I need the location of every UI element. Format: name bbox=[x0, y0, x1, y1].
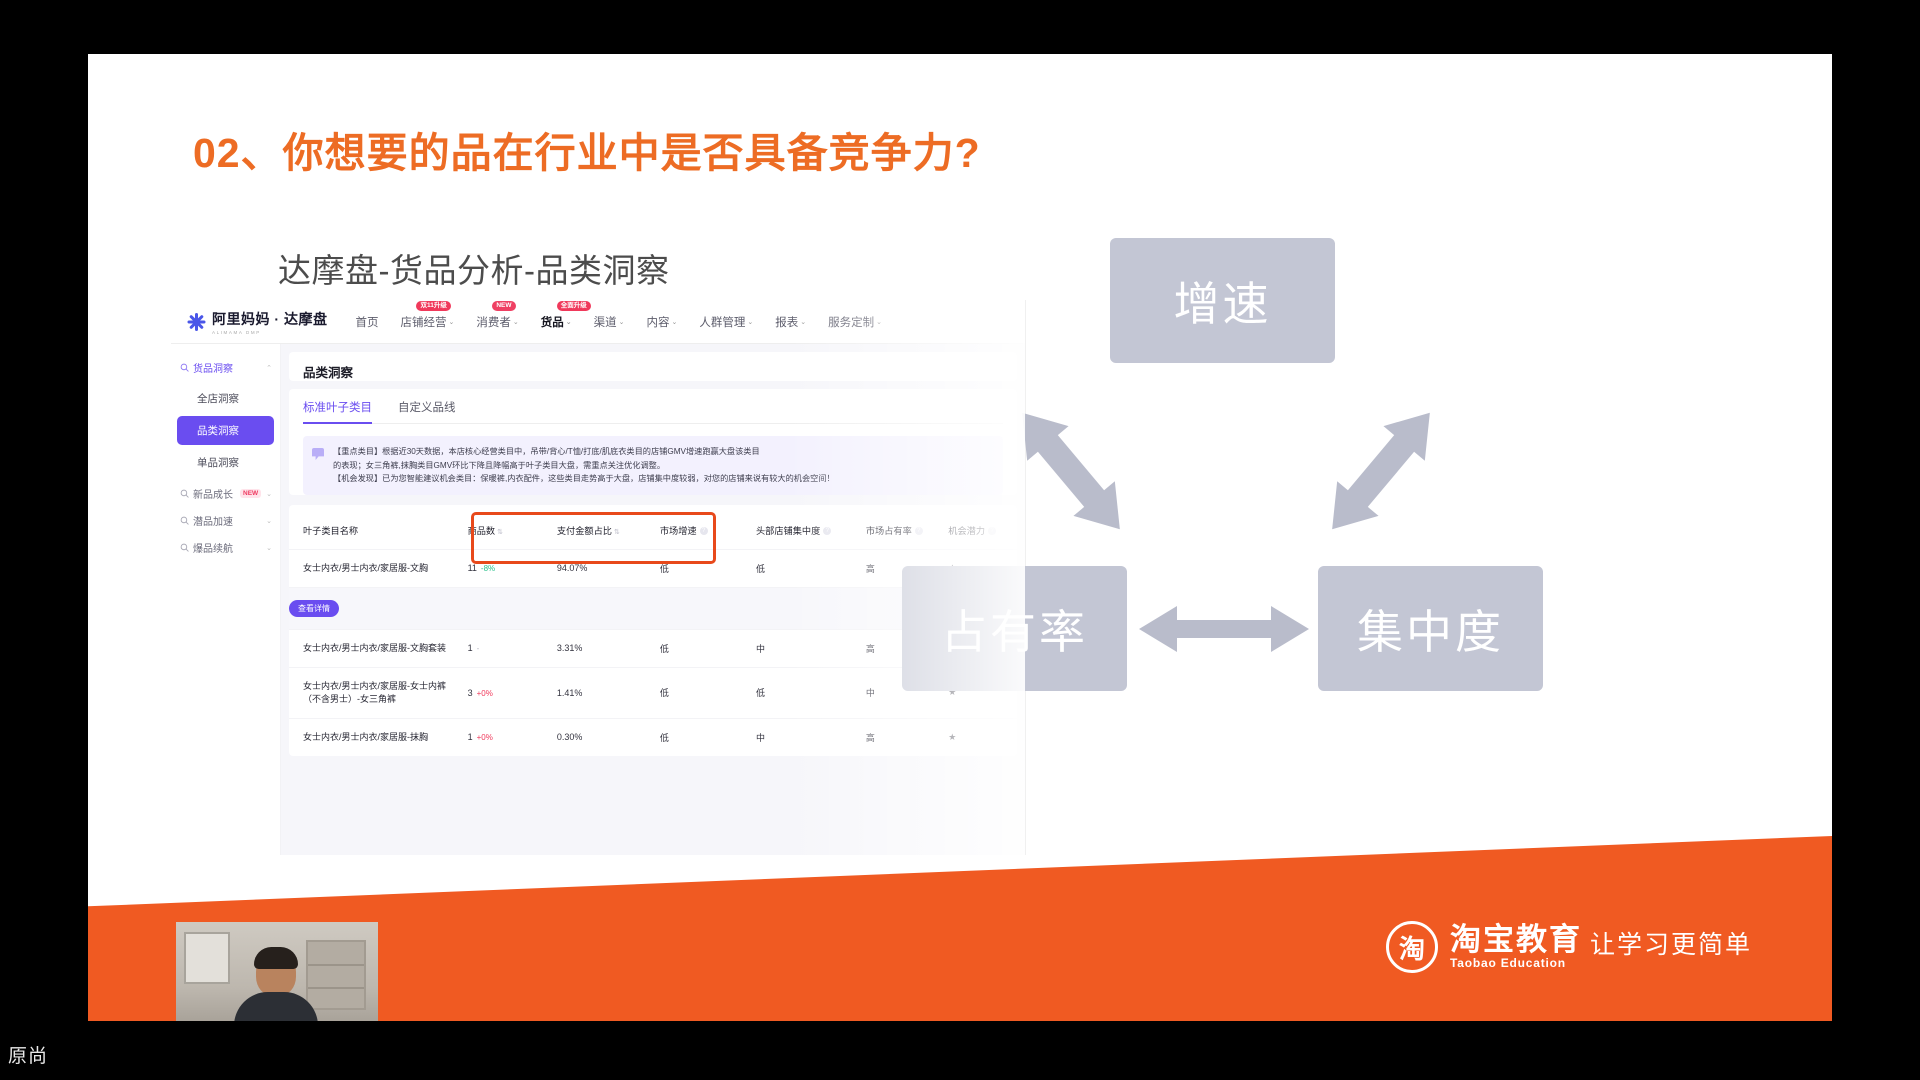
sidebar-group-new-product-growth[interactable]: 新品成长 NEW ⌄ bbox=[171, 480, 280, 507]
th-label: 头部店铺集中度 bbox=[756, 526, 820, 536]
cell-payment-ratio: 1.41% bbox=[557, 667, 660, 718]
nav-item-list: 首页 双11升级 店铺经营 ⌄ NEW 消费者 ⌄ 全面升级 货品 bbox=[355, 310, 882, 334]
webcam-background bbox=[176, 922, 378, 1021]
footer-slogan: 让学习更简单 bbox=[1590, 925, 1752, 961]
cell-payment-ratio: 94.07% bbox=[557, 549, 660, 587]
sidebar-item-category-insight[interactable]: 品类洞察 bbox=[177, 416, 274, 445]
slide-canvas: 02、你想要的品在行业中是否具备竞争力? 达摩盘-货品分析-品类洞察 bbox=[88, 54, 1832, 1021]
th-payment-amount-ratio[interactable]: 支付金额占比⇅ bbox=[557, 509, 660, 550]
presenter-name: 原尚 bbox=[8, 1041, 48, 1068]
nav-badge: 全面升级 bbox=[557, 301, 591, 311]
th-category-name: 叶子类目名称 bbox=[289, 509, 468, 550]
nav-badge: NEW bbox=[492, 301, 515, 311]
cell-product-count: 1+0% bbox=[468, 718, 557, 756]
help-icon[interactable]: ? bbox=[700, 527, 708, 535]
nav-badge: 双11升级 bbox=[416, 301, 450, 311]
cell-product-count: 1- bbox=[468, 629, 557, 667]
nav-item-channel[interactable]: 渠道 ⌄ bbox=[594, 310, 625, 334]
chevron-up-icon: ⌃ bbox=[266, 364, 272, 372]
sidebar-group-label: 爆品续航 bbox=[193, 540, 233, 555]
chevron-down-icon: ⌄ bbox=[266, 517, 272, 525]
count-delta: +0% bbox=[477, 733, 493, 742]
th-label: 商品数 bbox=[468, 526, 496, 536]
sort-icon[interactable]: ⇅ bbox=[614, 529, 620, 536]
nav-item-home[interactable]: 首页 bbox=[355, 310, 378, 334]
chevron-down-icon: ⌄ bbox=[448, 318, 454, 326]
arrow-share-to-growth bbox=[996, 389, 1146, 554]
nav-item-label: 店铺经营 bbox=[400, 314, 446, 330]
sidebar-group-goods-insight[interactable]: 货品洞察 ⌃ bbox=[171, 354, 280, 381]
hair-shape bbox=[254, 947, 298, 969]
torso-shape bbox=[234, 992, 318, 1021]
sidebar-group-label: 货品洞察 bbox=[193, 360, 233, 375]
taobao-logo-icon: 淘 bbox=[1386, 921, 1438, 973]
lightbulb-icon bbox=[312, 448, 324, 460]
help-icon[interactable]: ? bbox=[823, 527, 831, 535]
cell-category-name: 女士内衣/男士内衣/家居服-抹胸 bbox=[289, 718, 468, 756]
sort-icon[interactable]: ⇅ bbox=[497, 529, 503, 536]
cell-market-growth: 低 bbox=[660, 718, 756, 756]
sidebar-group-potential-accel[interactable]: 潜品加速 ⌄ bbox=[171, 507, 280, 534]
chevron-down-icon: ⌄ bbox=[566, 318, 572, 326]
nav-item-label: 首页 bbox=[355, 314, 378, 330]
chevron-down-icon: ⌄ bbox=[671, 318, 677, 326]
nav-item-label: 内容 bbox=[646, 314, 669, 330]
chevron-down-icon: ⌄ bbox=[266, 490, 272, 498]
screen-root: 02、你想要的品在行业中是否具备竞争力? 达摩盘-货品分析-品类洞察 bbox=[0, 0, 1920, 1080]
insight-icon bbox=[180, 363, 189, 372]
th-label: 市场增速 bbox=[660, 526, 697, 536]
accelerate-icon bbox=[180, 516, 189, 525]
nav-item-label: 货品 bbox=[541, 314, 564, 330]
diagram-node-concentration: 集中度 bbox=[1318, 566, 1543, 691]
tab-custom-product-line[interactable]: 自定义品线 bbox=[398, 399, 456, 423]
chevron-down-icon: ⌄ bbox=[513, 318, 519, 326]
concept-diagram: 增速 占有率 集中度 bbox=[878, 214, 1578, 744]
th-label: 支付金额占比 bbox=[557, 526, 612, 536]
cell-market-growth: 低 bbox=[660, 667, 756, 718]
nav-item-goods[interactable]: 全面升级 货品 ⌄ bbox=[541, 310, 572, 334]
cell-concentration: 中 bbox=[756, 629, 866, 667]
cell-payment-ratio: 0.30% bbox=[557, 718, 660, 756]
count-delta: - bbox=[477, 644, 480, 653]
cell-concentration: 中 bbox=[756, 718, 866, 756]
count-delta: -8% bbox=[481, 564, 495, 573]
presenter-webcam[interactable] bbox=[176, 922, 378, 1021]
logo-text-cn: 淘宝教育 bbox=[1450, 924, 1582, 957]
th-product-count[interactable]: 商品数⇅ bbox=[468, 509, 557, 550]
count-value: 3 bbox=[468, 688, 473, 698]
chevron-down-icon: ⌄ bbox=[619, 318, 625, 326]
cell-category-name: 女士内衣/男士内衣/家居服-女士内裤（不含男士）-女三角裤 bbox=[289, 667, 468, 718]
presenter-figure bbox=[228, 950, 324, 1021]
endurance-icon bbox=[180, 543, 189, 552]
count-value: 11 bbox=[468, 563, 477, 573]
nav-item-label: 服务定制 bbox=[828, 314, 874, 330]
diagram-node-growth: 增速 bbox=[1110, 238, 1335, 363]
sidebar-item-all-store-insight[interactable]: 全店洞察 bbox=[177, 384, 274, 413]
growth-icon bbox=[180, 489, 189, 498]
nav-item-consumer[interactable]: NEW 消费者 ⌄ bbox=[476, 310, 518, 334]
count-value: 1 bbox=[468, 732, 473, 742]
cell-market-growth: 低 bbox=[660, 629, 756, 667]
chevron-down-icon: ⌄ bbox=[266, 544, 272, 552]
th-label: 叶子类目名称 bbox=[303, 526, 358, 536]
nav-item-label: 人群管理 bbox=[699, 314, 745, 330]
chevron-down-icon: ⌄ bbox=[800, 318, 806, 326]
app-sidebar: 货品洞察 ⌃ 全店洞察 品类洞察 单品洞察 新品成长 NEW ⌄ bbox=[171, 344, 281, 855]
brand-name: 阿里妈妈 · 达摩盘 bbox=[212, 309, 327, 329]
nav-item-reports[interactable]: 报表 ⌄ bbox=[775, 310, 806, 334]
cell-market-growth: 低 bbox=[660, 549, 756, 587]
cell-product-count: 11-8% bbox=[468, 549, 557, 587]
alimama-logo-icon bbox=[185, 311, 207, 333]
nav-item-content[interactable]: 内容 ⌄ bbox=[646, 310, 677, 334]
nav-item-service[interactable]: 服务定制 ⌄ bbox=[828, 310, 882, 334]
logo-text-en: Taobao Education bbox=[1450, 956, 1582, 970]
sidebar-group-label: 潜品加速 bbox=[193, 513, 233, 528]
count-value: 1 bbox=[468, 643, 473, 653]
tab-standard-leaf-category[interactable]: 标准叶子类目 bbox=[303, 399, 372, 423]
arrow-share-to-concentration bbox=[1133, 600, 1315, 658]
count-delta: +0% bbox=[477, 689, 493, 698]
brand-tagline: ALIMAMA DMP bbox=[212, 330, 327, 335]
cell-category-name: 女士内衣/男士内衣/家居服-文胸 bbox=[289, 549, 468, 587]
sidebar-group-hot-product-endurance[interactable]: 爆品续航 ⌄ bbox=[171, 534, 280, 561]
nav-item-store-ops[interactable]: 双11升级 店铺经营 ⌄ bbox=[400, 310, 454, 334]
cell-payment-ratio: 3.31% bbox=[557, 629, 660, 667]
cell-concentration: 低 bbox=[756, 549, 866, 587]
app-logo: 阿里妈妈 · 达摩盘 ALIMAMA DMP bbox=[185, 309, 327, 335]
sidebar-group-label: 新品成长 bbox=[193, 486, 233, 501]
cell-product-count: 3+0% bbox=[468, 667, 557, 718]
arrow-growth-to-concentration bbox=[1306, 389, 1456, 554]
nav-item-label: 报表 bbox=[775, 314, 798, 330]
sidebar-item-single-product-insight[interactable]: 单品洞察 bbox=[177, 448, 274, 477]
cell-concentration: 低 bbox=[756, 667, 866, 718]
window-shape bbox=[184, 932, 230, 984]
chevron-down-icon: ⌄ bbox=[747, 318, 753, 326]
page-title: 02、你想要的品在行业中是否具备竞争力? bbox=[193, 119, 981, 179]
cell-category-name: 女士内衣/男士内衣/家居服-文胸套装 bbox=[289, 629, 468, 667]
taobao-education-logo: 淘 淘宝教育 Taobao Education bbox=[1386, 921, 1582, 973]
th-top-store-concentration: 头部店铺集中度? bbox=[756, 509, 866, 550]
th-market-growth: 市场增速? bbox=[660, 509, 756, 550]
slide-subtitle: 达摩盘-货品分析-品类洞察 bbox=[278, 244, 669, 292]
nav-item-label: 渠道 bbox=[594, 314, 617, 330]
new-badge: NEW bbox=[240, 489, 261, 498]
nav-item-label: 消费者 bbox=[476, 314, 511, 330]
diagram-node-market-share: 占有率 bbox=[902, 566, 1127, 691]
view-detail-button[interactable]: 查看详情 bbox=[289, 600, 339, 617]
nav-item-audience[interactable]: 人群管理 ⌄ bbox=[699, 310, 753, 334]
